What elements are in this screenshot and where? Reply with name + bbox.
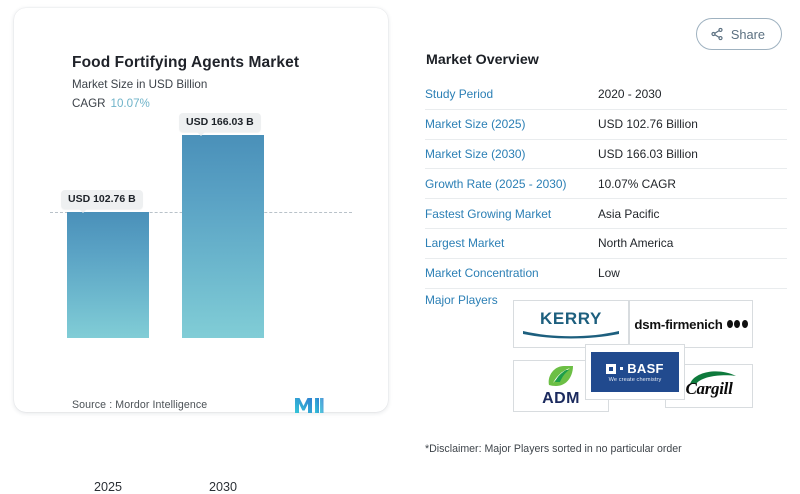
major-players-label: Major Players [425,293,498,307]
table-row: Growth Rate (2025 - 2030) 10.07% CAGR [425,169,787,199]
basf-dot-icon [620,367,623,370]
mordor-intelligence-logo-icon [294,396,324,414]
player-logo-basf: BASF We create chemistry [585,344,685,400]
row-value: USD 166.03 Billion [598,147,698,161]
row-value: North America [598,236,673,250]
disclaimer-text: *Disclaimer: Major Players sorted in no … [425,443,682,455]
table-row: Study Period 2020 - 2030 [425,80,787,110]
market-overview-table: Study Period 2020 - 2030 Market Size (20… [425,80,787,289]
row-value: 10.07% CAGR [598,177,676,191]
row-value: USD 102.76 Billion [598,117,698,131]
dsm-firmenich-logo-text: dsm-firmenich [634,317,722,332]
cagr-value: 10.07% [111,97,150,110]
kerry-logo-text: KERRY [521,309,621,329]
share-button[interactable]: Share [696,18,782,50]
basf-square-icon [606,364,616,374]
adm-logo-text: ADM [542,390,580,408]
basf-logo-main: BASF [606,361,664,376]
x-tick-2025: 2025 [63,480,153,494]
row-key: Growth Rate (2025 - 2030) [425,177,598,191]
chart-cagr: CAGR10.07% [72,97,150,110]
dsm-firmenich-logo: dsm-firmenich [634,317,747,332]
adm-leaf-icon [546,364,576,388]
basf-logo: BASF We create chemistry [591,352,679,392]
row-key: Market Size (2030) [425,147,598,161]
source-text: Source : Mordor Intelligence [72,399,207,411]
row-key: Market Size (2025) [425,117,598,131]
major-players-logo-grid: KERRY dsm-firmenich ADM [513,300,753,412]
bar-2025[interactable] [67,212,149,338]
chart-card: Food Fortifying Agents Market Market Siz… [14,8,388,412]
adm-logo: ADM [542,364,580,408]
table-row: Market Size (2025) USD 102.76 Billion [425,110,787,140]
kerry-swoosh-icon [523,329,619,339]
table-row: Largest Market North America [425,229,787,259]
dsm-dots-icon [727,320,748,328]
player-logo-kerry: KERRY [513,300,629,348]
market-snapshot-page: Food Fortifying Agents Market Market Siz… [0,0,800,482]
cagr-label: CAGR [72,97,106,110]
row-value: Low [598,266,620,280]
row-key: Fastest Growing Market [425,207,598,221]
bar-chart-plot: USD 102.76 B USD 166.03 B 2025 2030 [14,118,388,368]
basf-tagline: We create chemistry [609,377,662,383]
kerry-logo: KERRY [521,309,621,339]
market-overview-title: Market Overview [426,52,539,68]
share-button-label: Share [731,27,765,42]
player-logo-dsm-firmenich: dsm-firmenich [629,300,753,348]
share-nodes-icon [710,27,724,41]
chart-subtitle: Market Size in USD Billion [72,78,207,91]
row-key: Study Period [425,87,598,101]
chart-title: Food Fortifying Agents Market [72,54,299,72]
row-value: 2020 - 2030 [598,87,661,101]
table-row: Market Size (2030) USD 166.03 Billion [425,140,787,170]
row-key: Largest Market [425,236,598,250]
data-label-2030: USD 166.03 B [179,113,261,132]
row-key: Market Concentration [425,266,598,280]
table-row: Market Concentration Low [425,259,787,289]
table-row: Fastest Growing Market Asia Pacific [425,199,787,229]
x-tick-2030: 2030 [178,480,268,494]
data-label-2025: USD 102.76 B [61,190,143,209]
bar-2030[interactable] [182,135,264,338]
row-value: Asia Pacific [598,207,659,221]
basf-logo-text: BASF [627,361,664,376]
